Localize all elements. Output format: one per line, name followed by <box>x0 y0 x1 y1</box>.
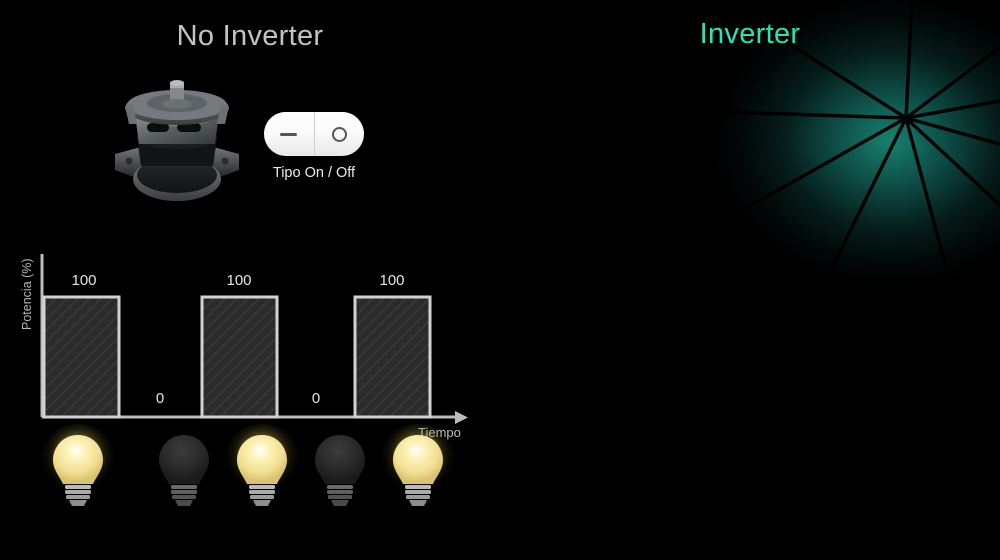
bar-value-label: 0 <box>138 390 182 407</box>
teal-radial-glow <box>660 0 1000 340</box>
bar-value-label: 0 <box>294 390 338 407</box>
minus-icon <box>280 133 297 136</box>
bulb-off <box>146 424 222 524</box>
bulb-on <box>40 424 116 524</box>
on-off-toggle[interactable] <box>264 112 364 156</box>
bulb-off <box>302 424 378 524</box>
bar-series <box>44 297 430 417</box>
bulb-row-no-inverter <box>30 424 470 524</box>
bulb-on <box>224 424 300 524</box>
radial-rays-decoration <box>660 0 1000 340</box>
toggle-on-half[interactable] <box>315 112 365 156</box>
panel-title-inverter: Inverter <box>500 18 1000 51</box>
toggle-caption: Tipo On / Off <box>264 165 364 181</box>
bulb-on <box>380 424 456 524</box>
inverter-panel: Inverter <box>500 0 1000 560</box>
no-inverter-chart: 100 0 100 0 100 <box>0 240 490 440</box>
toggle-off-half[interactable] <box>264 112 314 156</box>
bar-value-label: 100 <box>62 272 106 289</box>
washer-motor-dark-icon <box>103 78 251 210</box>
no-inverter-panel: No Inverter <box>0 0 500 560</box>
bar-value-label: 100 <box>217 272 261 289</box>
circle-icon <box>332 127 347 142</box>
bar-value-label: 100 <box>370 272 414 289</box>
panel-title-no-inverter: No Inverter <box>0 20 500 53</box>
